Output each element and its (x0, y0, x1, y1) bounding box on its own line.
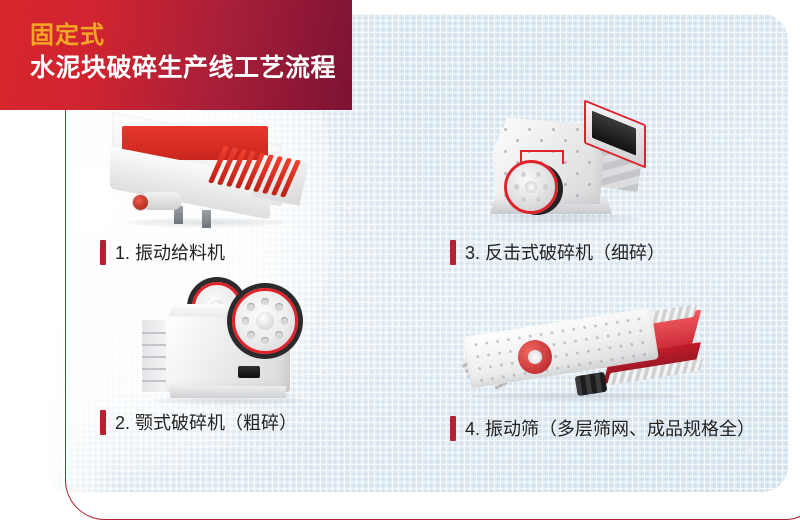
caption-bar (100, 410, 106, 435)
machine-image-impact-crusher (476, 100, 656, 230)
item-vibrating-feeder: 1. 振动给料机 (92, 118, 392, 278)
caption-jaw-crusher: 2. 颚式破碎机（粗碎） (100, 410, 297, 435)
machine-image-jaw-crusher (140, 278, 320, 408)
machine-image-vibrating-screen (456, 288, 706, 408)
title-banner: 固定式 水泥块破碎生产线工艺流程 (0, 0, 352, 110)
flywheel (504, 160, 558, 214)
infographic-root: 固定式 水泥块破碎生产线工艺流程 1. 振动给料机 (0, 0, 800, 530)
caption-text: 2. 颚式破碎机（粗碎） (115, 414, 297, 432)
caption-vibrating-feeder: 1. 振动给料机 (100, 240, 225, 265)
banner-title: 水泥块破碎生产线工艺流程 (30, 56, 336, 81)
caption-vibrating-screen: 4. 振动筛（多层筛网、成品规格全） (450, 416, 755, 441)
machine-image-vibrating-feeder (106, 118, 306, 230)
item-vibrating-screen: 4. 振动筛（多层筛网、成品规格全） (450, 288, 800, 448)
caption-bar (450, 416, 456, 441)
caption-impact-crusher: 3. 反击式破碎机（细碎） (450, 240, 665, 265)
caption-bar (100, 240, 106, 265)
flywheel-front (232, 288, 298, 354)
item-jaw-crusher: 2. 颚式破碎机（粗碎） (92, 278, 422, 448)
banner-subtitle: 固定式 (30, 24, 105, 48)
caption-text: 4. 振动筛（多层筛网、成品规格全） (465, 420, 755, 438)
caption-text: 3. 反击式破碎机（细碎） (465, 244, 665, 262)
caption-bar (450, 240, 456, 265)
item-impact-crusher: 3. 反击式破碎机（细碎） (450, 100, 790, 280)
caption-text: 1. 振动给料机 (115, 244, 225, 262)
